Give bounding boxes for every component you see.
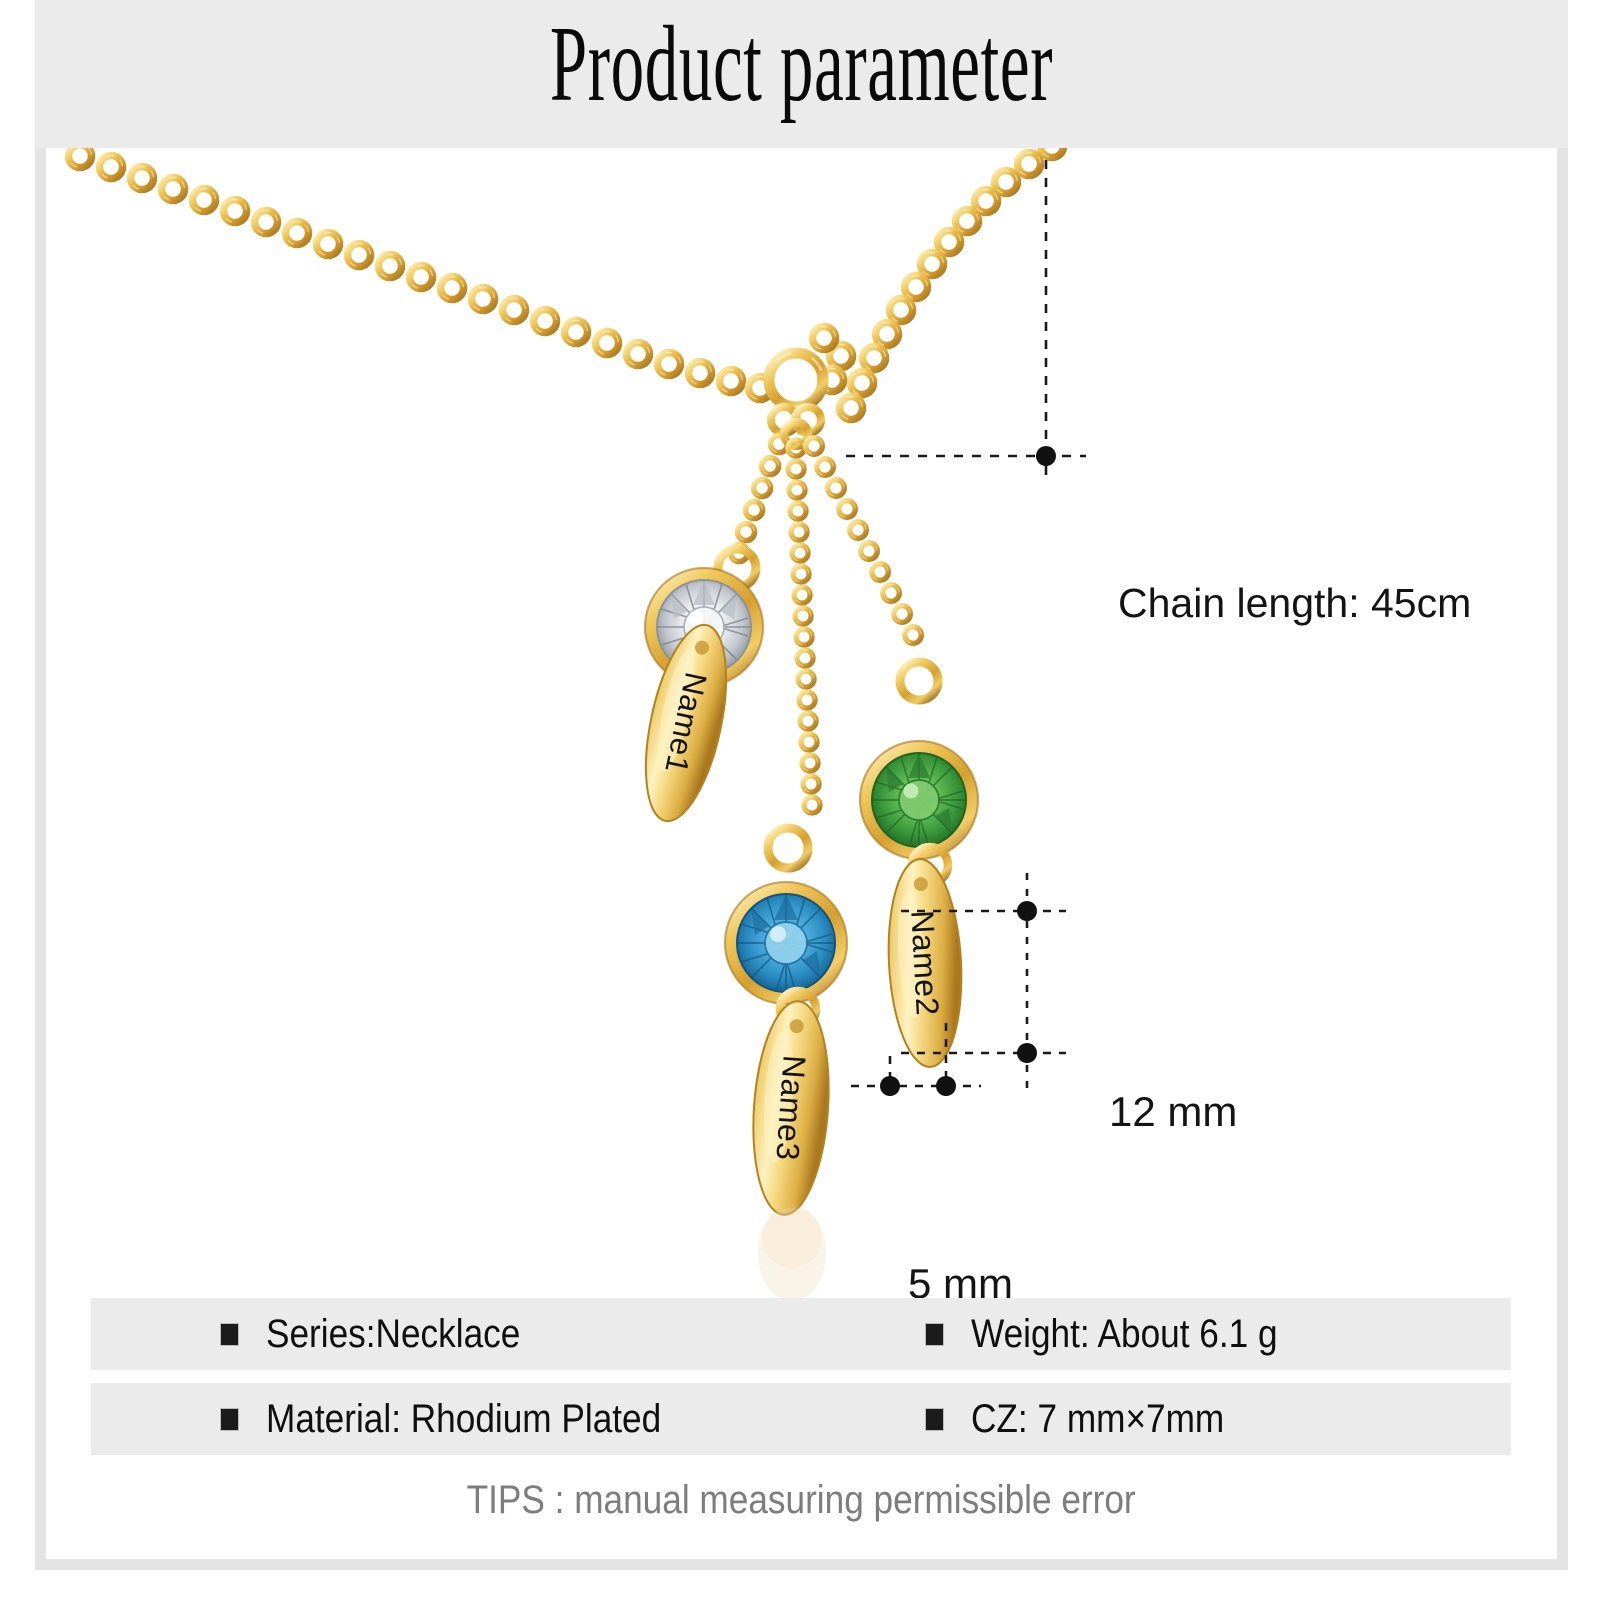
tag-name2-text: Name2	[904, 909, 945, 1016]
spec-cz-text: CZ: 7 mm×7mm	[971, 1397, 1224, 1442]
ring-above-blue-gem	[768, 828, 808, 868]
bullet-square-icon	[926, 1324, 943, 1345]
chain-right-links	[808, 148, 1068, 424]
drop-chain-middle	[785, 437, 824, 817]
frame-border-bottom	[35, 1559, 1568, 1570]
page-title: Product parameter	[326, 6, 1276, 124]
tips-text: TIPS : manual measuring permissible erro…	[467, 1478, 1136, 1523]
tag-name3: Name3	[747, 999, 836, 1218]
bullet-square-icon	[221, 1324, 238, 1345]
spec-material: Material: Rhodium Plated	[221, 1383, 715, 1455]
dim-12mm-dot-bottom	[1017, 1043, 1037, 1063]
frame-border-left	[35, 148, 46, 1570]
dim-5mm-dot-left	[880, 1076, 900, 1096]
tag-name2: Name2	[884, 857, 967, 1068]
spec-series-text: Series:Necklace	[266, 1312, 520, 1357]
spec-weight: Weight: About 6.1 g	[926, 1298, 1319, 1370]
drop-chain-right	[802, 434, 924, 646]
chain-length-label: Chain length: 45cm	[1118, 580, 1471, 626]
spec-row-2: Material: Rhodium Plated CZ: 7 mm×7mm	[91, 1383, 1511, 1455]
dim-12mm-dot-top	[1017, 901, 1037, 921]
tag-height-label: 12 mm	[1109, 1088, 1237, 1136]
tag-name3-text: Name3	[769, 1054, 812, 1162]
ring-above-green-gem	[900, 662, 938, 700]
tips-note: TIPS : manual measuring permissible erro…	[46, 1478, 1557, 1523]
gem-blue	[725, 882, 847, 1004]
spec-material-text: Material: Rhodium Plated	[266, 1397, 661, 1442]
spec-weight-text: Weight: About 6.1 g	[971, 1312, 1278, 1357]
dim-5mm-dot-right	[936, 1076, 956, 1096]
dimension-lines	[846, 160, 1086, 1100]
spec-series: Series:Necklace	[221, 1298, 555, 1370]
gem-green	[860, 741, 978, 859]
product-parameter-image: Product parameter	[0, 0, 1600, 1600]
bullet-square-icon	[221, 1409, 238, 1430]
frame-border-right	[1557, 148, 1568, 1570]
chain-length-dot	[1036, 446, 1056, 466]
spec-row-1: Series:Necklace Weight: About 6.1 g	[91, 1298, 1511, 1370]
chain-left-links	[64, 148, 776, 404]
spec-cz: CZ: 7 mm×7mm	[926, 1383, 1259, 1455]
bullet-square-icon	[926, 1409, 943, 1430]
